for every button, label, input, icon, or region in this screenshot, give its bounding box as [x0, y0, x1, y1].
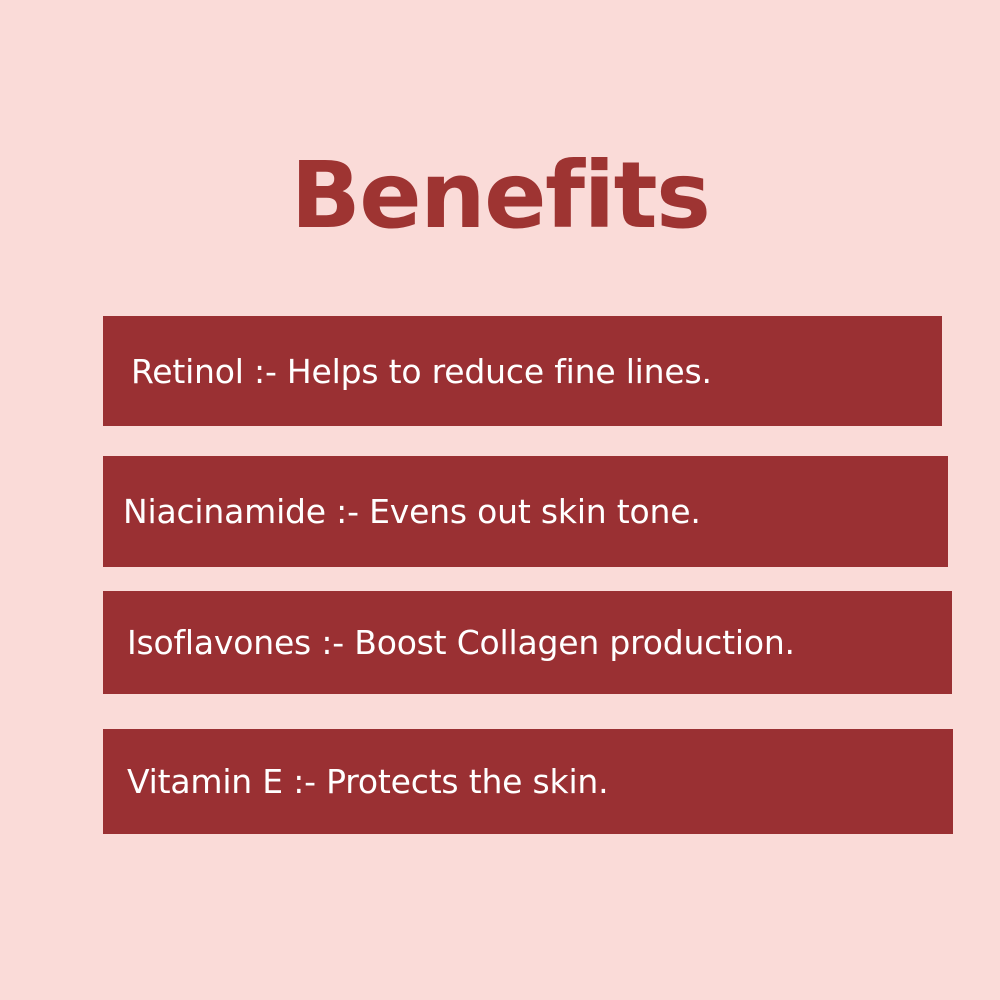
benefit-item: Retinol :- Helps to reduce fine lines. [103, 316, 942, 426]
benefit-item-label: Vitamin E :- Protects the skin. [103, 765, 608, 798]
benefit-item-label: Retinol :- Helps to reduce fine lines. [103, 355, 712, 388]
benefit-item: Vitamin E :- Protects the skin. [103, 729, 953, 834]
benefit-item-label: Isoflavones :- Boost Collagen production… [103, 626, 795, 659]
benefit-item-label: Niacinamide :- Evens out skin tone. [103, 495, 701, 528]
benefit-item: Niacinamide :- Evens out skin tone. [103, 456, 948, 567]
benefits-poster: Benefits Retinol :- Helps to reduce fine… [0, 0, 1000, 1000]
page-title: Benefits [0, 146, 1000, 245]
benefit-item: Isoflavones :- Boost Collagen production… [103, 591, 952, 694]
